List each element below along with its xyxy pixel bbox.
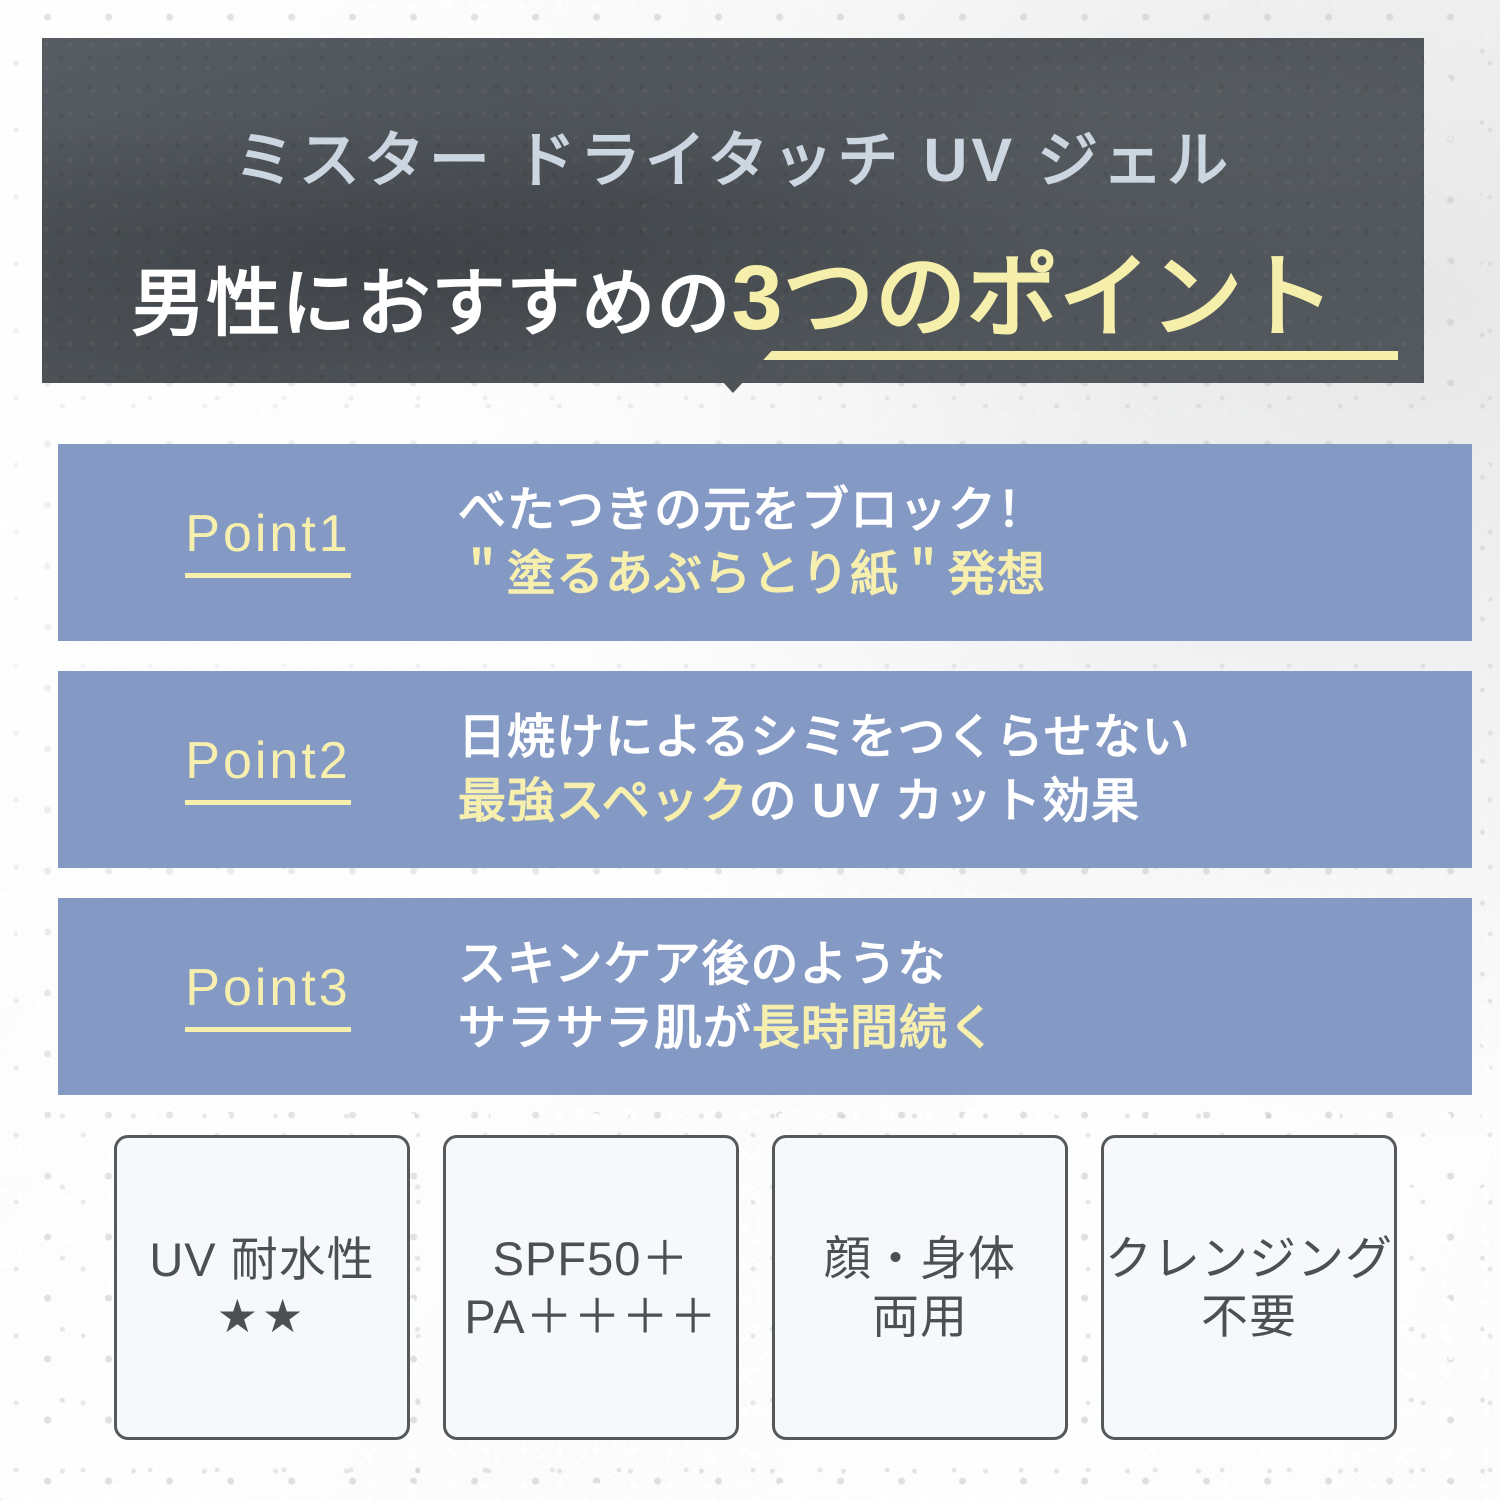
point-label-2-text: Point2 [185,734,350,806]
headline: 男性におすすめの3つのポイント [42,252,1424,344]
spec-card-no-cleansing: クレンジング 不要 [1101,1135,1397,1440]
product-title: ミスター ドライタッチ UV ジェル [42,130,1424,191]
spec-card-spf: SPF50＋ PA＋＋＋＋ [443,1135,739,1440]
spec-card-2-line-1: SPF50＋ [493,1230,690,1287]
point-bar-1: Point1 べたつきの元をブロック！ ＂塗るあぶらとり紙＂発想 [58,444,1472,641]
point-label-3: Point3 [58,961,458,1033]
point-3-line-1: スキンケア後のような [458,933,1472,996]
spec-card-face-body: 顔・身体 両用 [772,1135,1068,1440]
point-label-1: Point1 [58,507,458,579]
spec-card-row: UV 耐水性 ★★ SPF50＋ PA＋＋＋＋ 顔・身体 両用 クレンジング 不… [114,1135,1397,1440]
point-3-line-2-highlight: 長時間続く [752,1002,997,1055]
point-bar-3: Point3 スキンケア後のような サラサラ肌が長時間続く [58,898,1472,1095]
point-body-2: 日焼けによるシミをつくらせない 最強スペックの UV カット効果 [458,706,1472,833]
point-2-line-2-highlight: 最強スペック [458,775,749,828]
spec-card-2-line-2: PA＋＋＋＋ [464,1288,717,1345]
point-body-3: スキンケア後のような サラサラ肌が長時間続く [458,933,1472,1060]
headline-highlight-text: 3つのポイント [731,247,1334,349]
spec-card-water-resistance: UV 耐水性 ★★ [114,1135,410,1440]
header-arrow-down-icon [689,345,777,393]
header-banner: ミスター ドライタッチ UV ジェル 男性におすすめの3つのポイント [42,38,1424,383]
point-body-1: べたつきの元をブロック！ ＂塗るあぶらとり紙＂発想 [458,479,1472,606]
spec-card-4-line-1: クレンジング [1105,1230,1393,1287]
point-label-3-text: Point3 [185,961,350,1033]
spec-card-4-line-2: 不要 [1201,1288,1297,1345]
product-feature-graphic: ミスター ドライタッチ UV ジェル 男性におすすめの3つのポイント Point… [0,0,1500,1500]
point-2-line-2-plain: の UV カット効果 [749,775,1140,828]
point-2-line-1: 日焼けによるシミをつくらせない [458,706,1472,769]
star-rating-icon: ★★ [217,1288,307,1344]
headline-plain-text: 男性におすすめの [131,262,731,345]
point-label-2: Point2 [58,734,458,806]
point-1-line-2-highlight: ＂塗るあぶらとり紙＂発想 [458,548,1046,601]
point-bar-2: Point2 日焼けによるシミをつくらせない 最強スペックの UV カット効果 [58,671,1472,868]
point-3-line-2-plain: サラサラ肌が [458,1002,752,1055]
point-label-1-text: Point1 [185,507,350,579]
spec-card-3-line-1: 顔・身体 [824,1230,1016,1287]
spec-card-1-line-1: UV 耐水性 [149,1231,374,1288]
headline-underline [726,351,1398,360]
point-1-line-1: べたつきの元をブロック！ [458,479,1472,542]
spec-card-3-line-2: 両用 [872,1288,968,1345]
